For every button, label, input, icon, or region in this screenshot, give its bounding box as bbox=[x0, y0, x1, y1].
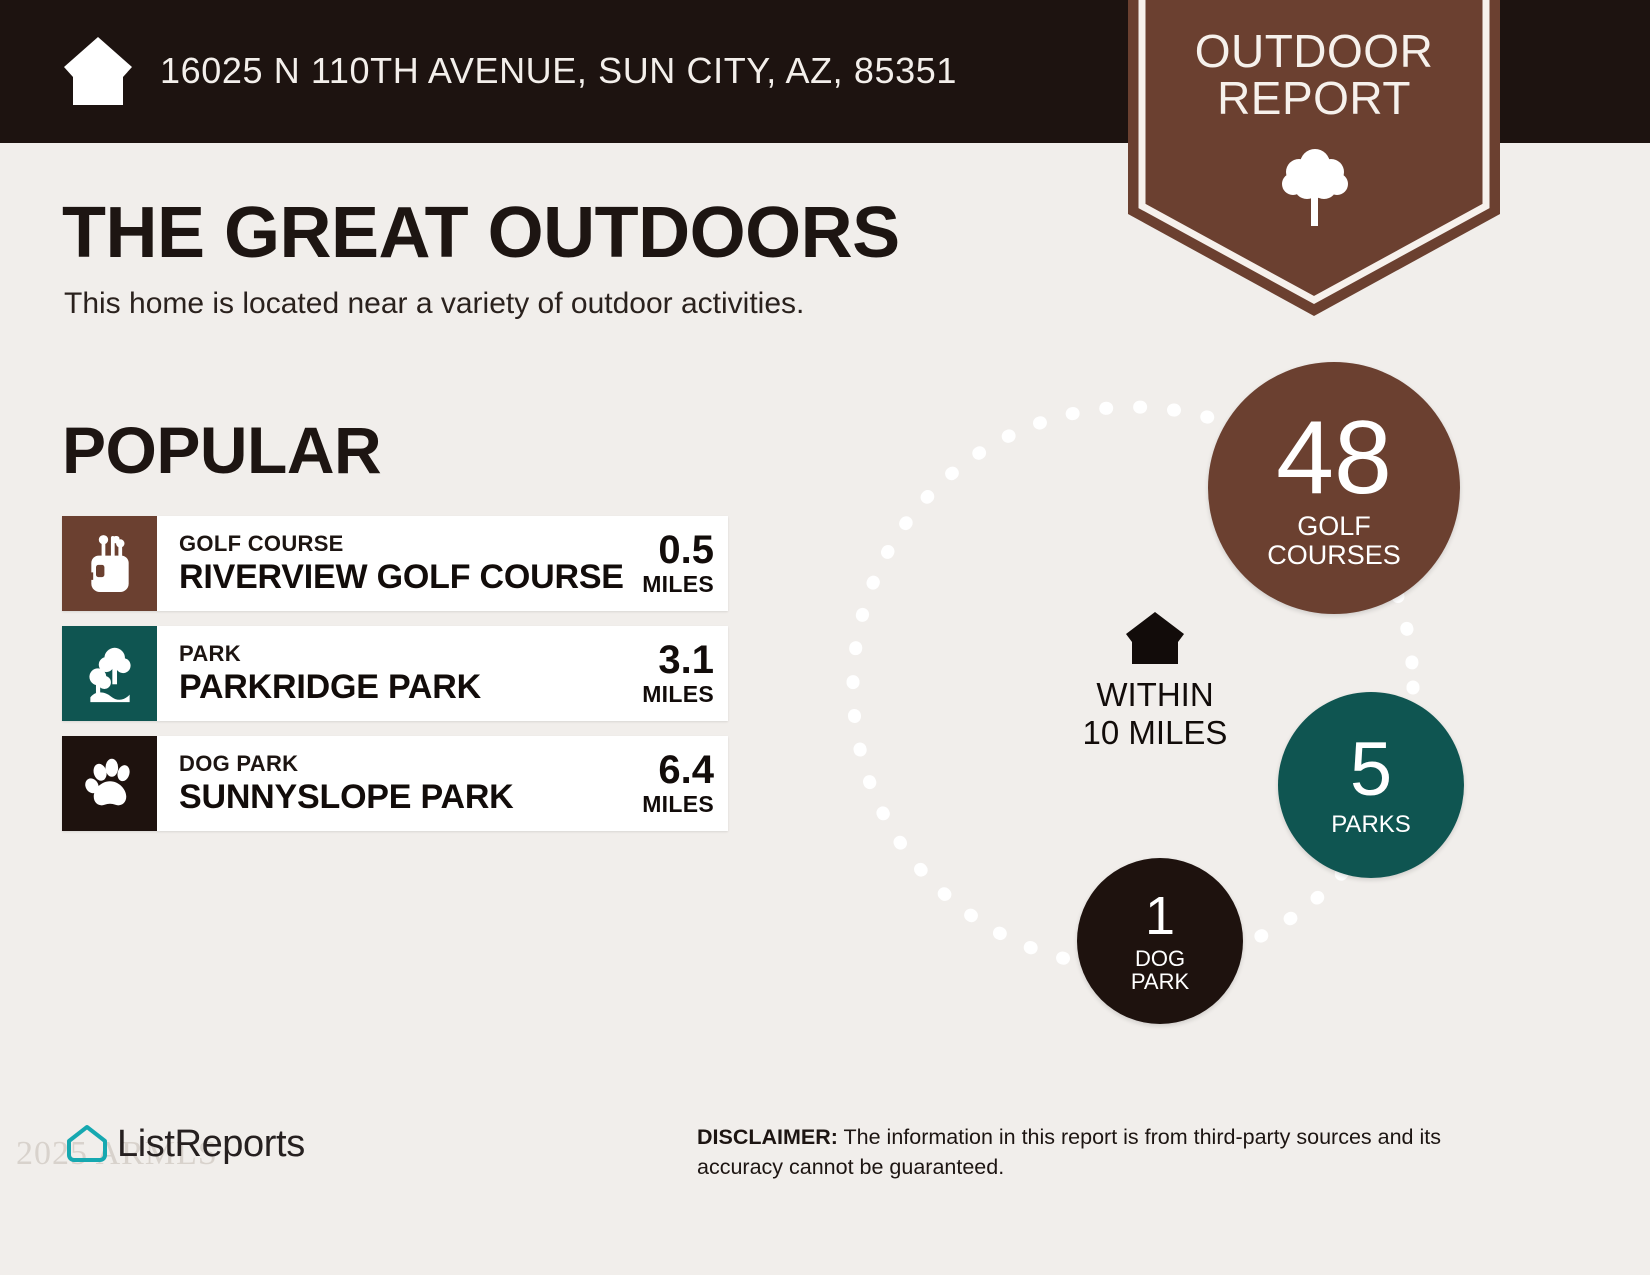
list-item[interactable]: GOLF COURSE RIVERVIEW GOLF COURSE 0.5 MI… bbox=[62, 516, 728, 611]
stat-label: PARKS bbox=[1331, 812, 1411, 837]
golf-bag-icon bbox=[62, 516, 157, 611]
badge-title: OUTDOOR REPORT bbox=[1128, 28, 1500, 122]
tree-icon bbox=[1277, 144, 1353, 228]
outdoor-report-page: 16025 N 110TH AVENUE, SUN CITY, AZ, 8535… bbox=[0, 0, 1650, 1275]
stat-circle-golf-courses[interactable]: 48 GOLF COURSES bbox=[1208, 362, 1460, 614]
park-trees-icon bbox=[62, 626, 157, 721]
list-item-distance: 3.1 MILES bbox=[628, 640, 714, 708]
distance-unit: MILES bbox=[642, 790, 714, 818]
list-item-distance: 0.5 MILES bbox=[628, 530, 714, 598]
distance-value: 0.5 bbox=[658, 530, 714, 570]
home-icon bbox=[62, 33, 134, 109]
distance-value: 3.1 bbox=[658, 640, 714, 680]
listreports-logo[interactable]: ListReports bbox=[65, 1122, 305, 1166]
list-item[interactable]: DOG PARK SUNNYSLOPE PARK 6.4 MILES bbox=[62, 736, 728, 831]
page-title: THE GREAT OUTDOORS bbox=[62, 192, 900, 274]
distance-value: 6.4 bbox=[658, 750, 714, 790]
page-subtitle: This home is located near a variety of o… bbox=[64, 287, 804, 321]
outdoor-report-badge: OUTDOOR REPORT bbox=[1128, 0, 1500, 316]
stat-value: 48 bbox=[1276, 406, 1392, 510]
listreports-logo-text: ListReports bbox=[117, 1123, 305, 1166]
stat-label: DOG PARK bbox=[1131, 947, 1189, 994]
list-item-category: GOLF COURSE bbox=[179, 531, 624, 557]
popular-section-heading: POPULAR bbox=[62, 412, 381, 488]
distance-unit: MILES bbox=[642, 680, 714, 708]
within-radius-text: WITHIN 10 MILES bbox=[1055, 676, 1255, 752]
within-radius-label: WITHIN 10 MILES bbox=[1055, 610, 1255, 752]
stat-circle-dog-park[interactable]: 1 DOG PARK bbox=[1077, 858, 1243, 1024]
property-address: 16025 N 110TH AVENUE, SUN CITY, AZ, 8535… bbox=[160, 50, 957, 92]
within-radius-diagram: 48 GOLF COURSES 5 PARKS 1 DOG PARK WITHI… bbox=[800, 330, 1580, 1070]
list-item-name: PARKRIDGE PARK bbox=[179, 667, 481, 707]
list-item-body: PARK PARKRIDGE PARK 3.1 MILES bbox=[157, 626, 728, 721]
listreports-house-icon bbox=[65, 1122, 109, 1166]
stat-label: GOLF COURSES bbox=[1267, 512, 1401, 569]
list-item-category: DOG PARK bbox=[179, 751, 514, 777]
list-item-name: RIVERVIEW GOLF COURSE bbox=[179, 557, 624, 597]
list-item-distance: 6.4 MILES bbox=[628, 750, 714, 818]
list-item-category: PARK bbox=[179, 641, 481, 667]
stat-value: 1 bbox=[1145, 889, 1175, 943]
popular-list: GOLF COURSE RIVERVIEW GOLF COURSE 0.5 MI… bbox=[62, 516, 728, 846]
list-item-body: DOG PARK SUNNYSLOPE PARK 6.4 MILES bbox=[157, 736, 728, 831]
stat-value: 5 bbox=[1350, 732, 1392, 808]
paw-print-icon bbox=[62, 736, 157, 831]
home-icon bbox=[1124, 610, 1186, 666]
stat-circle-parks[interactable]: 5 PARKS bbox=[1278, 692, 1464, 878]
disclaimer-label: DISCLAIMER: bbox=[697, 1125, 838, 1149]
distance-unit: MILES bbox=[642, 570, 714, 598]
list-item[interactable]: PARK PARKRIDGE PARK 3.1 MILES bbox=[62, 626, 728, 721]
list-item-name: SUNNYSLOPE PARK bbox=[179, 777, 514, 817]
list-item-body: GOLF COURSE RIVERVIEW GOLF COURSE 0.5 MI… bbox=[157, 516, 728, 611]
disclaimer: DISCLAIMER: The information in this repo… bbox=[697, 1122, 1517, 1182]
